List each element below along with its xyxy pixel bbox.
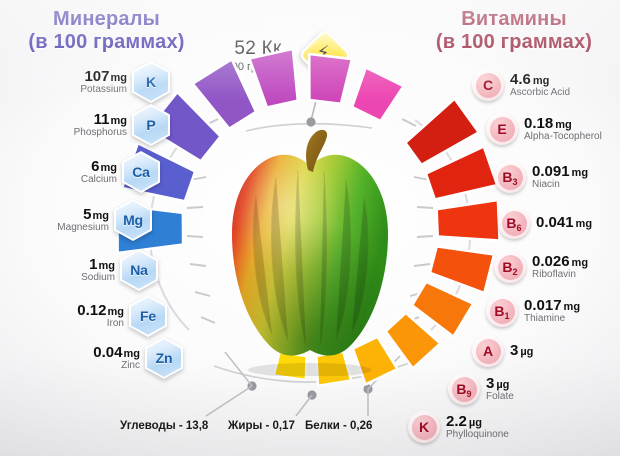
vitamin-symbol: B1 [494,304,509,318]
mineral-symbol-hexagon: K [132,61,170,103]
mineral-name: Iron [77,319,124,329]
vitamin-value: 0.017mg [524,298,580,314]
vitamin-row: B9 3µg Folate [448,370,514,408]
vitamin-symbol-badge: B2 [494,251,526,283]
mineral-row: 11mg Phosphorus P [20,105,170,145]
mineral-name: Magnesium [57,223,109,233]
vitamin-value: 2.2µg [446,414,509,430]
mineral-row: 5mg Magnesium Mg [2,200,152,240]
vitamin-row: B1 0.017mg Thiamine [486,292,580,330]
vitamin-symbol: K [419,420,429,434]
mineral-row: 0.12mg Iron Fe [12,296,167,336]
vitamin-row: C 4.6mg Ascorbic Acid [472,66,570,104]
macro-proteins: Белки - 0,26 [305,420,372,432]
mineral-value: 0.04mg [93,345,140,361]
mineral-value: 0.12mg [77,303,124,319]
mineral-value: 11mg [74,112,127,128]
infographic-canvas: Минералы (в 100 граммах) Витамины (в 100… [0,0,620,456]
mineral-symbol-hexagon: Na [120,249,158,291]
vitamin-row: K 2.2µg Phylloquinone [408,408,509,446]
vitamin-symbol: A [483,344,493,358]
mineral-row: 107mg Potassium K [20,62,170,102]
vitamin-symbol: C [483,78,493,92]
vitamin-symbol-badge: B9 [448,373,480,405]
vitamin-row: A 3µg [472,332,533,370]
mineral-name: Potassium [80,85,127,95]
vitamin-value: 0.026mg [532,254,588,270]
mineral-symbol-hexagon: Ca [122,151,160,193]
vitamin-row: E 0.18mg Alpha-Tocopherol [486,110,602,148]
vitamin-name: Thiamine [524,314,580,324]
apple-illustration [212,126,408,376]
mineral-name: Phosphorus [74,128,127,138]
vitamin-value: 0.041mg [536,215,592,231]
vitamin-symbol-badge: B3 [494,161,526,193]
vitamin-value: 0.18mg [524,116,602,132]
vitamin-symbol: E [497,122,506,136]
vitamin-name: Ascorbic Acid [510,88,570,98]
vitamin-value: 3µg [486,376,514,392]
vitamin-symbol-badge: E [486,113,518,145]
mineral-value: 5mg [57,207,109,223]
vitamin-value: 4.6mg [510,72,570,88]
macro-fats: Жиры - 0,17 [228,420,295,432]
mineral-name: Sodium [81,273,115,283]
mineral-row: 6mg Calcium Ca [10,152,160,192]
macro-carbohydrates: Углеводы - 13,8 [120,420,208,432]
vitamin-name: Folate [486,392,514,402]
vitamin-symbol: B9 [456,382,471,396]
vitamin-row: B6 0.041mg [498,204,592,242]
mineral-row: 0.04mg Zinc Zn [28,338,183,378]
mineral-value: 6mg [81,159,117,175]
vitamin-symbol-badge: K [408,411,440,443]
vitamin-symbol-badge: B1 [486,295,518,327]
mineral-symbol-hexagon: P [132,104,170,146]
vitamin-symbol: B3 [502,170,517,184]
mineral-name: Zinc [93,361,140,371]
vitamin-row: B3 0.091mg Niacin [494,158,588,196]
vitamin-symbol-badge: C [472,69,504,101]
mineral-symbol-hexagon: Fe [129,295,167,337]
mineral-name: Calcium [81,175,117,185]
mineral-value: 1mg [81,257,115,273]
vitamin-value: 0.091mg [532,164,588,180]
vitamin-name: Niacin [532,180,588,190]
mineral-row: 1mg Sodium Na [8,250,158,290]
mineral-symbol-hexagon: Zn [145,337,183,379]
vitamin-name: Alpha-Tocopherol [524,132,602,142]
mineral-value: 107mg [80,69,127,85]
vitamin-symbol: B2 [502,260,517,274]
vitamin-symbol: B6 [506,216,521,230]
vitamin-name: Phylloquinone [446,430,509,440]
mineral-symbol-hexagon: Mg [114,199,152,241]
vitamin-symbol-badge: B6 [498,207,530,239]
vitamin-symbol-badge: A [472,335,504,367]
vitamin-row: B2 0.026mg Riboflavin [494,248,588,286]
vitamin-name: Riboflavin [532,270,588,280]
vitamin-value: 3µg [510,343,533,359]
